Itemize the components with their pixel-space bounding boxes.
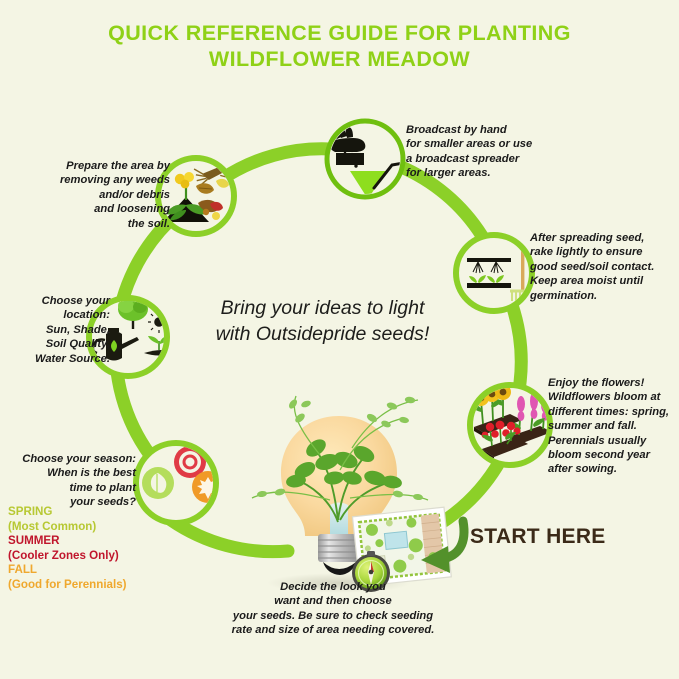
callout-location-line-4: Water Source. xyxy=(35,353,110,365)
season-spring-note: (Most Common) xyxy=(8,520,188,535)
callout-decide-look: Decide the look you want and then choose… xyxy=(218,580,448,638)
maple-leaf-icon xyxy=(192,471,224,503)
season-spring-name: SPRING xyxy=(8,505,188,520)
season-fall-name: FALL xyxy=(8,563,188,578)
callout-rake-and-water: After spreading seed, rake lightly to en… xyxy=(530,231,679,303)
callout-decide-line-3: your seeds. Be sure to check seeding xyxy=(233,610,433,622)
callout-prepare-line-2: removing any weeds xyxy=(60,174,170,186)
callout-enjoy-line-5: Perennials usually xyxy=(548,435,646,447)
page-title-line1: Quick Reference Guide for Planting xyxy=(108,21,571,45)
page-title-line2: Wildflower Meadow xyxy=(0,46,679,72)
callout-enjoy-flowers: Enjoy the flowers! Wildflowers bloom at … xyxy=(548,376,679,477)
page-title: Quick Reference Guide for Planting Wildf… xyxy=(0,20,679,72)
callout-rake-line-5: germination. xyxy=(530,290,597,302)
callout-broadcast-line-1: Broadcast by hand xyxy=(406,124,507,136)
season-summer-note: (Cooler Zones Only) xyxy=(8,549,188,564)
leaf-icon xyxy=(142,467,174,499)
callout-enjoy-line-1: Enjoy the flowers! xyxy=(548,377,644,389)
callout-rake-line-1: After spreading seed, xyxy=(530,232,644,244)
slogan-line-2: with Outsidepride seeds! xyxy=(216,323,430,345)
callout-decide-line-1: Decide the look you xyxy=(280,581,386,593)
callout-rake-line-4: Keep area moist until xyxy=(530,275,643,287)
slogan-line-1: Bring your ideas to light xyxy=(221,297,425,319)
season-fall-note: (Good for Perennials) xyxy=(8,578,188,593)
start-here-label: START HERE xyxy=(470,525,606,549)
callout-location-line-2: Sun, Shade, xyxy=(46,324,110,336)
callout-broadcast-line-4: for larger areas. xyxy=(406,167,491,179)
callout-prepare-area: Prepare the area by removing any weeds a… xyxy=(42,159,170,231)
callout-choose-location: Choose your location: Sun, Shade, Soil Q… xyxy=(0,294,110,366)
callout-enjoy-line-6: bloom second year xyxy=(548,449,650,461)
callout-prepare-line-3: and/or debris xyxy=(99,189,170,201)
callout-prepare-line-5: the soil. xyxy=(128,218,170,230)
season-legend: SPRING (Most Common) SUMMER (Cooler Zone… xyxy=(8,505,188,593)
callout-prepare-line-4: and loosening xyxy=(94,203,170,215)
callout-enjoy-line-7: after sowing. xyxy=(548,463,617,475)
callout-enjoy-line-4: summer and fall. xyxy=(548,420,637,432)
callout-season-line-1: Choose your season: xyxy=(22,453,136,465)
callout-season-line-2: When is the best xyxy=(47,467,136,479)
callout-location-line-1: Choose your location: xyxy=(42,295,110,321)
callout-enjoy-line-3: different times: spring, xyxy=(548,406,669,418)
callout-decide-line-2: want and then choose xyxy=(274,595,391,607)
season-summer-name: SUMMER xyxy=(8,534,188,549)
callout-broadcast-line-2: for smaller areas or use xyxy=(406,138,532,150)
callout-rake-line-2: rake lightly to ensure xyxy=(530,246,643,258)
callout-prepare-line-1: Prepare the area by xyxy=(66,160,170,172)
callout-enjoy-line-2: Wildflowers bloom at xyxy=(548,391,660,403)
callout-rake-line-3: good seed/soil contact. xyxy=(530,261,654,273)
callout-choose-season: Choose your season: When is the best tim… xyxy=(8,452,136,510)
callout-season-line-3: time to plant xyxy=(69,482,136,494)
callout-broadcast-seed: Broadcast by hand for smaller areas or u… xyxy=(406,123,566,181)
callout-broadcast-line-3: a broadcast spreader xyxy=(406,153,519,165)
callout-decide-line-4: rate and size of area needing covered. xyxy=(232,624,435,636)
infographic-canvas: Quick Reference Guide for Planting Wildf… xyxy=(0,0,679,679)
center-slogan: Bring your ideas to light with Outsidepr… xyxy=(175,295,470,347)
callout-location-line-3: Soil Quality, xyxy=(46,338,110,350)
